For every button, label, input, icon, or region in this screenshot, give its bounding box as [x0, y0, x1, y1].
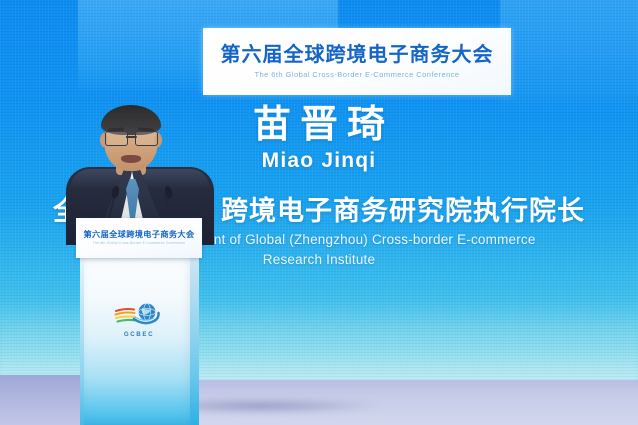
gcbec-globe-icon — [114, 300, 164, 330]
podium-sign-title-en: The 6th Global Cross-Border E-Commerce C… — [93, 241, 186, 245]
led-panel-bright-right — [500, 0, 638, 114]
speaker-mouth — [121, 155, 141, 163]
podium: GCBEC 第六届全球跨境电子商务大会 The 6th Global Cross… — [76, 218, 202, 425]
conference-banner-title-en: The 6th Global Cross-Border E-Commerce C… — [254, 70, 459, 79]
podium-logo: GCBEC — [106, 300, 172, 346]
podium-logo-text: GCBEC — [106, 331, 172, 338]
podium-sign-title-cn: 第六届全球跨境电子商务大会 — [84, 231, 195, 239]
podium-sign: 第六届全球跨境电子商务大会 The 6th Global Cross-Borde… — [76, 218, 202, 258]
conference-banner-title-cn: 第六届全球跨境电子商务大会 — [221, 45, 494, 65]
podium-edge-right — [190, 258, 199, 425]
conference-banner: 第六届全球跨境电子商务大会 The 6th Global Cross-Borde… — [203, 28, 511, 95]
conference-stage-photo: 第六届全球跨境电子商务大会 The 6th Global Cross-Borde… — [0, 0, 638, 425]
glasses-lens-right — [135, 131, 158, 146]
glasses-lens-left — [105, 131, 128, 146]
speaker-glasses — [105, 131, 158, 144]
